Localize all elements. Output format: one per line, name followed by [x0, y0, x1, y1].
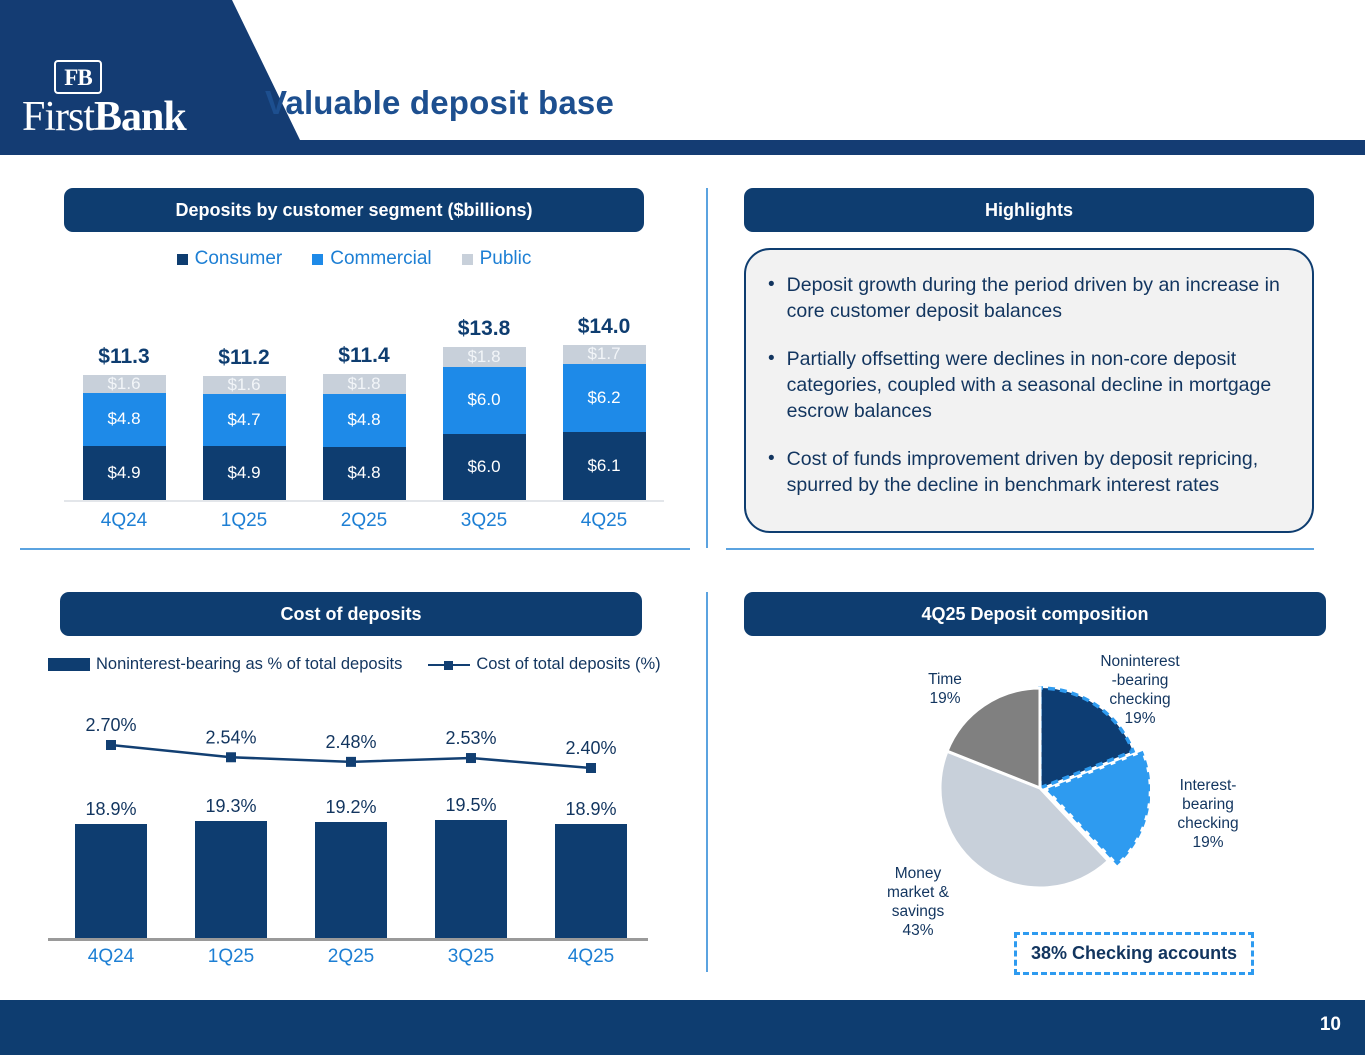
deposits-stack: $1.6$4.7$4.9 [203, 376, 286, 500]
deposits-segment-consumer: $4.8 [323, 447, 406, 500]
cost-bar-plot: 18.9%19.3%19.2%19.5%18.9% [48, 700, 668, 940]
legend-swatch-bar [48, 658, 90, 671]
header-bottom-strip [0, 140, 1365, 155]
legend-label-cost-of-total-deposits: Cost of total deposits (%) [476, 655, 660, 674]
slide-footer: 10 [0, 1000, 1365, 1055]
highlight-text: Partially offsetting were declines in no… [787, 346, 1286, 424]
deposits-segment-public: $1.6 [83, 375, 166, 393]
deposits-segment-commercial: $4.7 [203, 394, 286, 446]
legend-label-commercial: Commercial [330, 248, 431, 270]
deposits-bar-plot: $11.3$1.6$4.8$4.9$11.2$1.6$4.7$4.9$11.4$… [64, 285, 664, 500]
deposits-segment-consumer: $6.1 [563, 432, 646, 500]
highlights-box: •Deposit growth during the period driven… [744, 248, 1314, 533]
highlight-bullet: •Deposit growth during the period driven… [768, 272, 1286, 324]
cost-x-tick: 4Q24 [75, 946, 147, 968]
cost-x-axis: 4Q241Q252Q253Q254Q25 [48, 946, 668, 976]
highlights-panel-header: Highlights [744, 188, 1314, 232]
pie-label-interest-bearing-checking: Interest-bearing checking19% [1158, 776, 1258, 852]
deposits-segment-consumer: $4.9 [83, 446, 166, 500]
legend-swatch-commercial [312, 254, 323, 265]
pie-label-noninterest-bearing-checking: Noninterest-bearing checking19% [1085, 652, 1195, 728]
cost-bar-label: 19.5% [435, 795, 507, 816]
firstbank-logo: FB FirstBank [22, 60, 222, 140]
legend-swatch-consumer [177, 254, 188, 265]
deposits-total-label: $13.8 [443, 317, 526, 341]
highlight-text: Cost of funds improvement driven by depo… [787, 446, 1286, 498]
deposits-axis-line [64, 500, 664, 502]
cost-bar-label: 18.9% [75, 799, 147, 820]
deposits-stack: $1.7$6.2$6.1 [563, 345, 646, 500]
pie-label-time: Time19% [905, 670, 985, 708]
deposits-stack: $1.8$4.8$4.8 [323, 374, 406, 500]
deposits-total-label: $11.4 [323, 344, 406, 368]
highlight-bullet: •Cost of funds improvement driven by dep… [768, 446, 1286, 498]
deposits-segment-commercial: $6.2 [563, 364, 646, 433]
deposits-x-axis: 4Q241Q252Q253Q254Q25 [64, 510, 664, 540]
cost-bar [315, 822, 387, 940]
deposits-segment-commercial: $6.0 [443, 367, 526, 433]
cost-bar [195, 821, 267, 940]
deposits-total-label: $11.3 [83, 345, 166, 369]
divider-vertical-bottom [706, 592, 708, 972]
fb-monogram-icon: FB [54, 60, 102, 94]
checking-accounts-callout: 38% Checking accounts [1014, 932, 1254, 975]
legend-item-commercial: Commercial [312, 248, 431, 270]
deposits-segment-commercial: $4.8 [83, 393, 166, 446]
deposits-segment-public: $1.7 [563, 345, 646, 364]
deposits-segment-public: $1.8 [443, 347, 526, 367]
slide-header: FB FirstBank Valuable deposit base [0, 0, 1365, 155]
deposits-segment-consumer: $4.9 [203, 446, 286, 500]
pie-label-money-market-savings: Moneymarket & savings43% [868, 864, 968, 940]
deposits-total-label: $11.2 [203, 346, 286, 370]
cost-x-tick: 4Q25 [555, 946, 627, 968]
divider-vertical-top [706, 188, 708, 548]
divider-top-left [20, 548, 690, 550]
divider-top-right [726, 548, 1314, 550]
deposits-x-tick: 4Q24 [83, 510, 166, 532]
cost-x-tick: 3Q25 [435, 946, 507, 968]
cost-axis-line [48, 938, 648, 941]
legend-item-noninterest-bearing: Noninterest-bearing as % of total deposi… [48, 655, 402, 674]
bullet-icon: • [768, 272, 775, 324]
cost-bar-label: 19.3% [195, 796, 267, 817]
deposits-stack: $1.6$4.8$4.9 [83, 375, 166, 500]
cost-legend: Noninterest-bearing as % of total deposi… [48, 655, 668, 674]
legend-swatch-public [462, 254, 473, 265]
page-title: Valuable deposit base [265, 84, 614, 122]
highlight-bullet: •Partially offsetting were declines in n… [768, 346, 1286, 424]
cost-bar-label: 18.9% [555, 799, 627, 820]
cost-x-tick: 1Q25 [195, 946, 267, 968]
cost-panel-header: Cost of deposits [60, 592, 642, 636]
deposits-stack: $1.8$6.0$6.0 [443, 347, 526, 500]
bullet-icon: • [768, 346, 775, 424]
bullet-icon: • [768, 446, 775, 498]
legend-swatch-line [428, 659, 470, 671]
logo-wordmark-first: First [22, 94, 94, 140]
deposits-x-tick: 1Q25 [203, 510, 286, 532]
deposits-segment-consumer: $6.0 [443, 434, 526, 500]
legend-item-public: Public [462, 248, 532, 270]
deposits-total-label: $14.0 [563, 315, 646, 339]
legend-item-consumer: Consumer [177, 248, 283, 270]
page-number: 10 [1320, 1014, 1341, 1036]
deposits-segment-public: $1.8 [323, 374, 406, 394]
legend-label-consumer: Consumer [195, 248, 283, 270]
logo-wordmark-second: Bank [94, 94, 186, 140]
logo-wordmark: FirstBank [22, 93, 222, 141]
cost-bar [435, 820, 507, 940]
deposits-x-tick: 3Q25 [443, 510, 526, 532]
deposits-legend: Consumer Commercial Public [64, 248, 644, 270]
deposits-x-tick: 2Q25 [323, 510, 406, 532]
highlight-text: Deposit growth during the period driven … [787, 272, 1286, 324]
deposits-segment-public: $1.6 [203, 376, 286, 394]
deposits-x-tick: 4Q25 [563, 510, 646, 532]
legend-item-cost-of-total-deposits: Cost of total deposits (%) [428, 655, 660, 674]
deposits-segment-commercial: $4.8 [323, 394, 406, 447]
cost-bar-label: 19.2% [315, 797, 387, 818]
cost-bar [75, 824, 147, 940]
legend-label-noninterest-bearing: Noninterest-bearing as % of total deposi… [96, 655, 402, 674]
deposits-panel-header: Deposits by customer segment ($billions) [64, 188, 644, 232]
legend-label-public: Public [480, 248, 532, 270]
cost-bar [555, 824, 627, 940]
cost-x-tick: 2Q25 [315, 946, 387, 968]
composition-panel-header: 4Q25 Deposit composition [744, 592, 1326, 636]
